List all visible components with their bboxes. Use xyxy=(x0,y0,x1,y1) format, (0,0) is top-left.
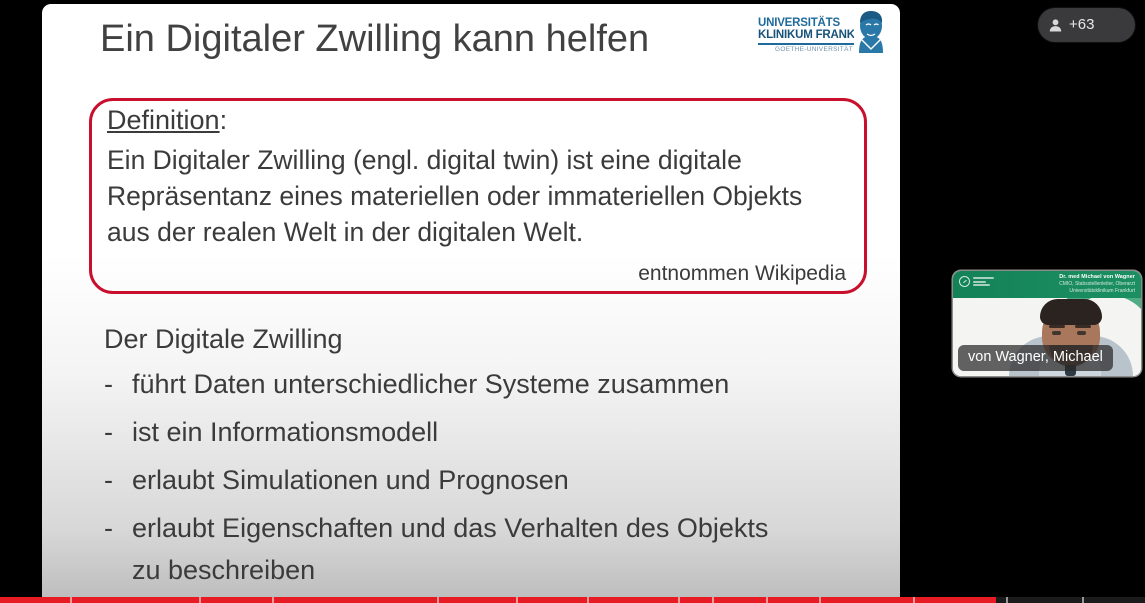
brand-mark-icon xyxy=(959,276,970,287)
bullet-dash-icon: - xyxy=(104,507,132,549)
hair-shape xyxy=(1040,299,1102,325)
participants-badge[interactable]: +63 xyxy=(1038,8,1135,42)
health-brand-logo xyxy=(959,276,994,287)
speaker-role: CMIO, Stabsstellenleiter, Oberarzt xyxy=(1059,281,1135,288)
eye-left-shape xyxy=(1052,331,1061,335)
speaker-name: Dr. med Michael von Wagner xyxy=(1059,274,1135,281)
page-title: Ein Digitaler Zwilling kann helfen xyxy=(100,16,649,62)
scrubber-chapter-tick xyxy=(913,597,915,603)
logo-wordmark: UNIVERSITÄTS KLINIKUM FRANKFURT GOETHE-U… xyxy=(758,17,862,54)
speaker-credentials: Dr. med Michael von Wagner CMIO, Stabsst… xyxy=(1059,274,1135,294)
scrubber-chapter-tick xyxy=(1082,597,1084,603)
speaker-org: Universitätsklinikum Frankfurt xyxy=(1059,288,1135,295)
bullet-dash-icon: - xyxy=(104,459,132,501)
scrubber-progress[interactable] xyxy=(0,597,996,603)
video-overlay-banner: Dr. med Michael von Wagner CMIO, Stabsst… xyxy=(953,271,1141,298)
scrubber-chapter-tick xyxy=(272,597,274,603)
shared-slide[interactable]: Ein Digitaler Zwilling kann helfen UNIVE… xyxy=(42,4,900,600)
list-item: - erlaubt Eigenschaften und das Verhalte… xyxy=(104,507,894,591)
list-item: - erlaubt Simulationen und Prognosen xyxy=(104,459,894,501)
goethe-head-icon xyxy=(854,9,888,53)
participant-name-label: von Wagner, Michael xyxy=(958,345,1113,371)
logo-line-2: KLINIKUM FRANKFURT xyxy=(758,29,862,42)
body-lead-text: Der Digitale Zwilling xyxy=(104,321,343,357)
scrubber-chapter-tick xyxy=(437,597,439,603)
meeting-screen: Ein Digitaler Zwilling kann helfen UNIVE… xyxy=(0,0,1145,603)
bullet-dash-icon: - xyxy=(104,363,132,405)
definition-source: entnommen Wikipedia xyxy=(638,261,846,287)
eyebrow-right-shape xyxy=(1075,325,1091,328)
logo-line-1: UNIVERSITÄTS xyxy=(758,17,862,29)
video-tile-von-wagner[interactable]: Dr. med Michael von Wagner CMIO, Stabsst… xyxy=(953,271,1141,376)
list-item-label: erlaubt Simulationen und Prognosen xyxy=(132,459,569,501)
scrubber-chapter-tick xyxy=(587,597,589,603)
university-logo: UNIVERSITÄTS KLINIKUM FRANKFURT GOETHE-U… xyxy=(758,9,888,59)
list-item-label: führt Daten unterschiedlicher Systeme zu… xyxy=(132,363,729,405)
brand-lettering xyxy=(973,277,994,286)
list-item-label: erlaubt Eigenschaften und das Verhalten … xyxy=(132,507,768,591)
definition-heading-word: Definition xyxy=(107,105,220,135)
scrubber-chapter-tick xyxy=(766,597,768,603)
definition-callout: Definition: Ein Digitaler Zwilling (engl… xyxy=(89,98,867,294)
playback-scrubber[interactable] xyxy=(0,597,1145,603)
definition-heading: Definition: xyxy=(107,103,227,137)
scrubber-chapter-tick xyxy=(1006,597,1008,603)
person-icon xyxy=(1048,18,1063,33)
definition-heading-colon: : xyxy=(220,105,228,135)
list-item: - ist ein Informationsmodell xyxy=(104,411,894,453)
scrubber-chapter-tick xyxy=(819,597,821,603)
bullet-dash-icon: - xyxy=(104,411,132,453)
participants-count: +63 xyxy=(1069,17,1094,33)
scrubber-chapter-tick xyxy=(678,597,680,603)
eye-right-shape xyxy=(1077,331,1086,335)
scrubber-chapter-tick xyxy=(712,597,714,603)
scrubber-chapter-tick xyxy=(199,597,201,603)
bullet-list: - führt Daten unterschiedlicher Systeme … xyxy=(104,363,894,597)
scrubber-chapter-tick xyxy=(516,597,518,603)
eyebrow-left-shape xyxy=(1049,325,1065,328)
scrubber-chapter-tick xyxy=(70,597,72,603)
list-item: - führt Daten unterschiedlicher Systeme … xyxy=(104,363,894,405)
list-item-label: ist ein Informationsmodell xyxy=(132,411,438,453)
definition-text: Ein Digitaler Zwilling (engl. digital tw… xyxy=(107,142,847,250)
